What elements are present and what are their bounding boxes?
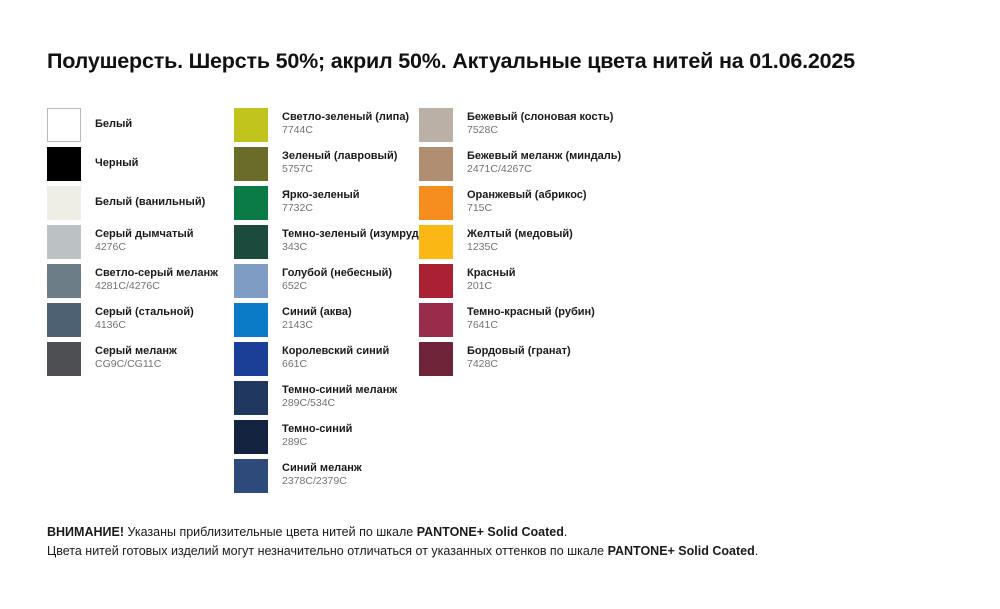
color-swatch	[419, 225, 453, 259]
color-swatch	[47, 147, 81, 181]
swatch-text: Оранжевый (абрикос)715C	[467, 186, 727, 215]
swatch-row: Серый (стальной)4136C	[47, 303, 227, 342]
swatch-text: Желтый (медовый)1235C	[467, 225, 727, 254]
swatch-row: Оранжевый (абрикос)715C	[419, 186, 619, 225]
swatch-row: Белый	[47, 108, 227, 147]
swatch-row: Белый (ванильный)	[47, 186, 227, 225]
swatch-pantone-code: 289C/534C	[282, 397, 542, 410]
color-swatch	[234, 108, 268, 142]
swatch-row: Бежевый меланж (миндаль)2471C/4267C	[419, 147, 619, 186]
footer-line-1-brand: PANTONE+ Solid Coated	[417, 525, 564, 539]
swatch-row: Темно-зеленый (изумруд)343C	[234, 225, 409, 264]
swatch-column-greens-blues: Светло-зеленый (липа)7744CЗеленый (лавро…	[234, 108, 409, 498]
swatch-row: Красный201C	[419, 264, 619, 303]
swatch-row: Синий меланж2378C/2379C	[234, 459, 409, 498]
color-swatch	[234, 264, 268, 298]
color-swatch	[47, 342, 81, 376]
color-swatch	[47, 108, 81, 142]
swatch-name: Желтый (медовый)	[467, 228, 727, 241]
color-swatch	[419, 303, 453, 337]
swatch-pantone-code: 201C	[467, 280, 727, 293]
color-swatch	[234, 147, 268, 181]
swatch-row: Серый меланжCG9C/CG11C	[47, 342, 227, 381]
swatch-pantone-code: 1235C	[467, 241, 727, 254]
footer-line-2-brand: PANTONE+ Solid Coated	[608, 544, 755, 558]
color-swatch	[47, 225, 81, 259]
swatch-column-neutrals: БелыйЧерныйБелый (ванильный)Серый дымчат…	[47, 108, 227, 381]
swatch-row: Темно-синий меланж289C/534C	[234, 381, 409, 420]
swatch-pantone-code: 7641C	[467, 319, 727, 332]
swatch-row: Черный	[47, 147, 227, 186]
swatch-column-warm-reds: Бежевый (слоновая кость)7528CБежевый мел…	[419, 108, 619, 381]
swatch-pantone-code: 7528C	[467, 124, 727, 137]
color-swatch	[234, 342, 268, 376]
swatch-pantone-code: 7428C	[467, 358, 727, 371]
swatch-name: Темно-красный (рубин)	[467, 306, 727, 319]
swatch-row: Зеленый (лавровый)5757C	[234, 147, 409, 186]
swatch-name: Оранжевый (абрикос)	[467, 189, 727, 202]
swatch-pantone-code: 2378C/2379C	[282, 475, 542, 488]
color-swatch	[234, 225, 268, 259]
swatch-name: Бежевый (слоновая кость)	[467, 111, 727, 124]
swatch-row: Желтый (медовый)1235C	[419, 225, 619, 264]
swatch-name: Темно-синий	[282, 423, 542, 436]
color-chart-page: Полушерсть. Шерсть 50%; акрил 50%. Актуа…	[0, 0, 1000, 609]
swatch-text: Бордовый (гранат)7428C	[467, 342, 727, 371]
swatch-row: Бежевый (слоновая кость)7528C	[419, 108, 619, 147]
swatch-name: Красный	[467, 267, 727, 280]
color-swatch	[47, 264, 81, 298]
swatch-name: Бежевый меланж (миндаль)	[467, 150, 727, 163]
color-swatch	[47, 186, 81, 220]
swatch-text: Красный201C	[467, 264, 727, 293]
footer-line-2-text: Цвета нитей готовых изделий могут незнач…	[47, 544, 608, 558]
color-swatch	[47, 303, 81, 337]
color-swatch	[419, 264, 453, 298]
swatch-name: Бордовый (гранат)	[467, 345, 727, 358]
swatch-text: Синий меланж2378C/2379C	[282, 459, 542, 488]
color-swatch	[234, 303, 268, 337]
color-swatch	[234, 420, 268, 454]
color-swatch	[419, 342, 453, 376]
color-swatch	[419, 147, 453, 181]
swatch-row: Светло-зеленый (липа)7744C	[234, 108, 409, 147]
swatch-text: Темно-синий меланж289C/534C	[282, 381, 542, 410]
swatch-text: Бежевый меланж (миндаль)2471C/4267C	[467, 147, 727, 176]
footer-line-1-text: Указаны приблизительные цвета нитей по ш…	[124, 525, 417, 539]
color-swatch	[234, 186, 268, 220]
swatch-pantone-code: 289C	[282, 436, 542, 449]
color-swatch	[419, 186, 453, 220]
swatch-row: Светло-серый меланж4281C/4276C	[47, 264, 227, 303]
swatch-text: Темно-красный (рубин)7641C	[467, 303, 727, 332]
swatch-row: Голубой (небесный)652C	[234, 264, 409, 303]
footer-attention-label: ВНИМАНИЕ!	[47, 525, 124, 539]
swatch-name: Темно-синий меланж	[282, 384, 542, 397]
color-swatch	[234, 381, 268, 415]
swatch-text: Темно-синий289C	[282, 420, 542, 449]
swatch-pantone-code: 715C	[467, 202, 727, 215]
swatch-row: Ярко-зеленый7732C	[234, 186, 409, 225]
footer-line-2: Цвета нитей готовых изделий могут незнач…	[47, 542, 967, 561]
swatch-row: Бордовый (гранат)7428C	[419, 342, 619, 381]
color-swatch	[234, 459, 268, 493]
swatch-row: Темно-красный (рубин)7641C	[419, 303, 619, 342]
swatch-name: Синий меланж	[282, 462, 542, 475]
page-title: Полушерсть. Шерсть 50%; акрил 50%. Актуа…	[47, 49, 967, 74]
footer-line-1: ВНИМАНИЕ! Указаны приблизительные цвета …	[47, 523, 967, 542]
swatch-row: Синий (аква)2143C	[234, 303, 409, 342]
swatch-row: Темно-синий289C	[234, 420, 409, 459]
swatch-row: Серый дымчатый4276C	[47, 225, 227, 264]
footer-line-1-suffix: .	[564, 525, 567, 539]
swatch-text: Бежевый (слоновая кость)7528C	[467, 108, 727, 137]
footer-note: ВНИМАНИЕ! Указаны приблизительные цвета …	[47, 523, 967, 561]
swatch-pantone-code: 2471C/4267C	[467, 163, 727, 176]
color-swatch	[419, 108, 453, 142]
footer-line-2-suffix: .	[755, 544, 758, 558]
swatch-row: Королевский синий661C	[234, 342, 409, 381]
